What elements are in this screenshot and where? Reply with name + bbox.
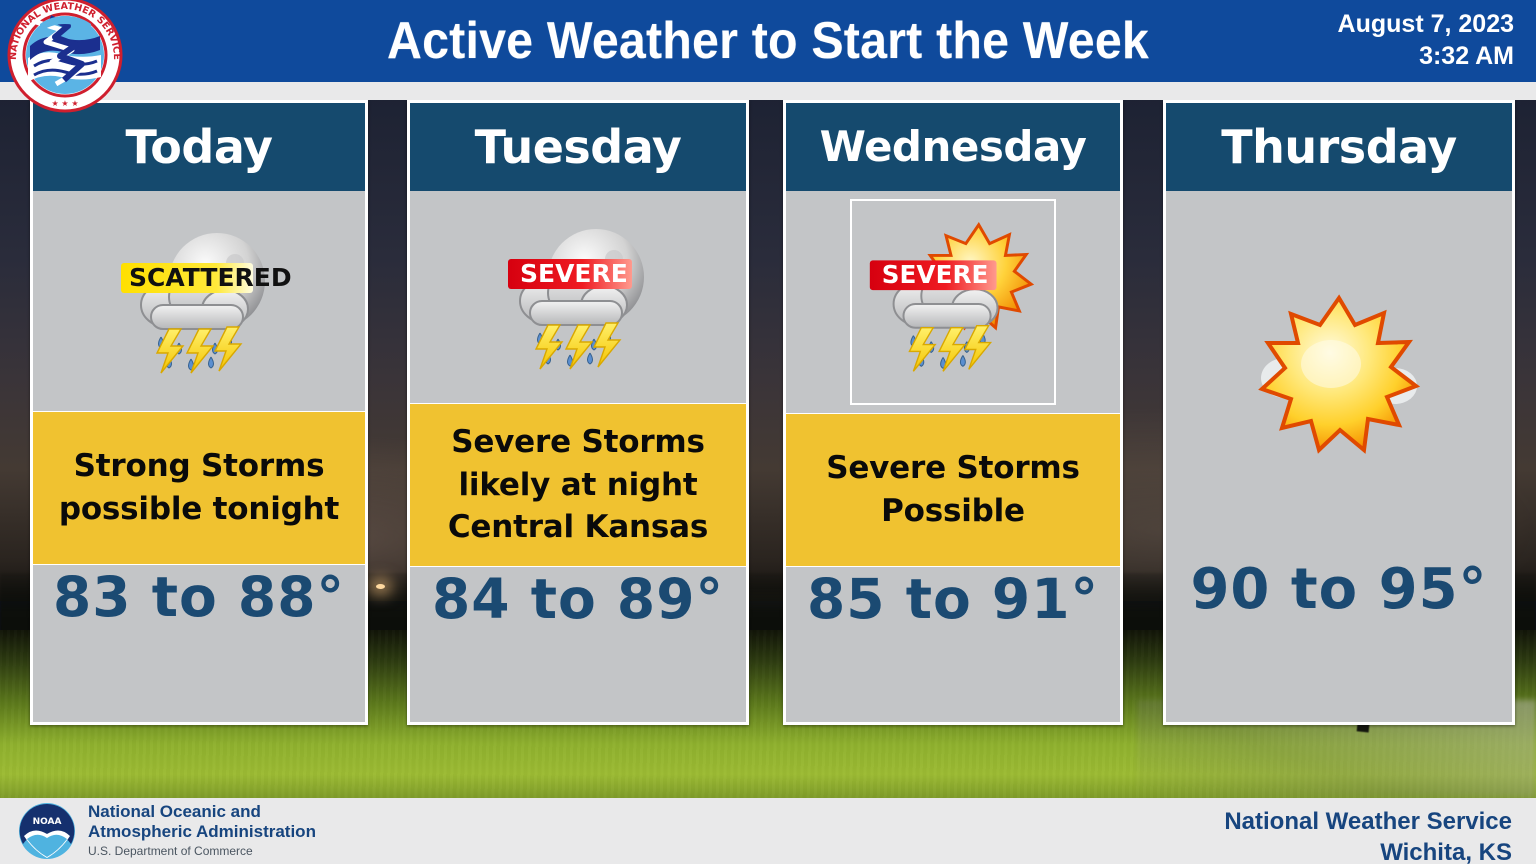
caption-line: Severe Storms — [826, 447, 1080, 490]
header-bar: Active Weather to Start the Week August … — [0, 0, 1536, 82]
weather-icon-zone — [1166, 191, 1512, 557]
issue-date: August 7, 2023 — [1338, 8, 1514, 40]
footer-bar: NOAA National Oceanic and Atmospheric Ad… — [0, 798, 1536, 864]
temperature-band: 84 to 89° — [410, 567, 746, 631]
caption-line: Severe Storms — [451, 421, 705, 464]
noaa-branding: NOAA National Oceanic and Atmospheric Ad… — [18, 802, 316, 860]
temperature-range: 83 to 88° — [53, 565, 345, 629]
header-divider-strip — [0, 82, 1536, 100]
severe-thunderstorms-night-icon: SEVERE — [478, 197, 678, 397]
day-label: Tuesday — [475, 124, 682, 170]
temperature-range: 85 to 91° — [807, 567, 1099, 631]
forecast-panel-thursday[interactable]: Thursday — [1163, 100, 1515, 725]
day-label: Thursday — [1221, 124, 1456, 170]
svg-text:NOAA: NOAA — [33, 817, 62, 827]
icon-badge-label: SEVERE — [882, 260, 989, 289]
weather-icon-zone: SEVERE — [786, 191, 1120, 413]
forecast-panel-tuesday[interactable]: Tuesday — [407, 100, 749, 725]
forecast-panel-today[interactable]: Today — [30, 100, 368, 725]
page-title: Active Weather to Start the Week — [54, 0, 1482, 82]
caption-line: possible tonight — [59, 488, 339, 531]
weather-icon-zone: SEVERE — [410, 191, 746, 403]
weather-graphic: Active Weather to Start the Week August … — [0, 0, 1536, 864]
caption-line: Central Kansas — [448, 506, 708, 549]
office-attribution: National Weather Service Wichita, KS — [1224, 806, 1512, 864]
noaa-line-1: National Oceanic and — [88, 802, 316, 822]
weather-icon-zone: SCATTERED — [33, 191, 365, 411]
caption-line: Strong Storms — [74, 445, 325, 488]
temperature-range: 84 to 89° — [432, 567, 724, 631]
office-location: Wichita, KS — [1224, 837, 1512, 864]
temperature-band: 85 to 91° — [786, 567, 1120, 631]
icon-badge-label: SCATTERED — [129, 263, 292, 292]
severe-thunderstorms-day-icon: SEVERE — [850, 199, 1056, 405]
sunny-icon — [1239, 274, 1439, 474]
svg-text:★ ★ ★: ★ ★ ★ — [51, 99, 78, 108]
caption-line: likely at night — [459, 464, 698, 507]
noaa-logo-icon: NOAA — [18, 802, 76, 860]
temperature-band: 83 to 88° — [33, 565, 365, 629]
caption-band: Strong Storms possible tonight — [33, 411, 365, 565]
office-name: National Weather Service — [1224, 806, 1512, 837]
day-header: Wednesday — [786, 103, 1120, 191]
day-header: Today — [33, 103, 365, 191]
temperature-range: 90 to 95° — [1190, 557, 1487, 622]
icon-badge-label: SEVERE — [520, 259, 628, 288]
day-label: Today — [126, 124, 273, 170]
day-header: Tuesday — [410, 103, 746, 191]
caption-line: Possible — [881, 490, 1025, 533]
noaa-line-3: U.S. Department of Commerce — [88, 844, 316, 858]
caption-band: Severe Storms Possible — [786, 413, 1120, 567]
noaa-line-2: Atmospheric Administration — [88, 822, 316, 842]
noaa-text-block: National Oceanic and Atmospheric Adminis… — [88, 802, 316, 858]
day-label: Wednesday — [820, 126, 1087, 168]
forecast-panel-wednesday[interactable]: Wednesday — [783, 100, 1123, 725]
caption-band: Severe Storms likely at night Central Ka… — [410, 403, 746, 567]
timestamp: August 7, 2023 3:32 AM — [1338, 8, 1514, 72]
day-header: Thursday — [1166, 103, 1512, 191]
nws-seal-icon: ★ ★ ★ NATIONAL WEATHER SERVICE — [6, 0, 124, 114]
temperature-band: 90 to 95° — [1166, 557, 1512, 622]
scattered-thunderstorms-night-icon: SCATTERED — [99, 201, 299, 401]
forecast-panels: Today — [0, 100, 1536, 760]
issue-time: 3:32 AM — [1338, 40, 1514, 72]
